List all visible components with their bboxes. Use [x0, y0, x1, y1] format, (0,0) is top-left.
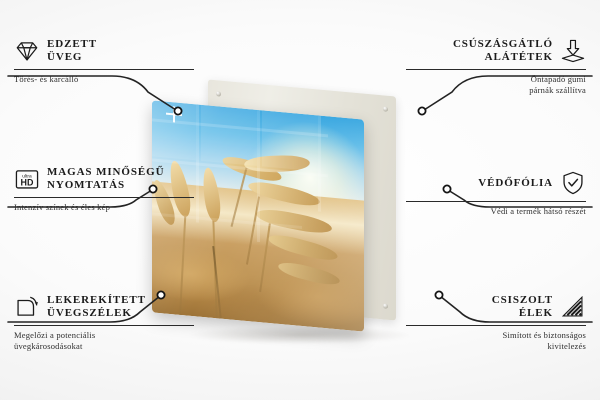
polished-edge-icon: [560, 294, 586, 320]
divider: [14, 69, 194, 70]
connector-dot: [418, 107, 425, 114]
feature-heading: CSÚSZÁSGÁTLÓ ALÁTÉTEK: [406, 38, 586, 64]
divider: [406, 201, 586, 202]
feature-title: MAGAS MINŐSÉGŰ NYOMTATÁS: [47, 166, 164, 192]
divider: [406, 325, 586, 326]
feature-title: LEKEREKÍTETT ÜVEGSZÉLEK: [47, 294, 146, 320]
feature-hd-print: ultra HD MAGAS MINŐSÉGŰ NYOMTATÁS Intenz…: [14, 166, 194, 213]
connector-dot: [174, 107, 181, 114]
feature-subtitle: kivitelezés: [406, 341, 586, 352]
feature-subtitle: Védi a termék hátsó részét: [406, 206, 586, 217]
feature-subtitle: párnák szállítva: [406, 85, 586, 96]
feature-title: CSÚSZÁSGÁTLÓ ALÁTÉTEK: [453, 38, 553, 64]
feature-title: CSISZOLT ÉLEK: [492, 294, 553, 320]
feature-heading: CSISZOLT ÉLEK: [406, 294, 586, 320]
feature-heading: ultra HD MAGAS MINŐSÉGŰ NYOMTATÁS: [14, 166, 194, 192]
feature-subtitle: Simított és biztonságos: [406, 330, 586, 341]
feature-subtitle: üvegkárosodásokat: [14, 341, 194, 352]
diamond-icon: [14, 38, 40, 64]
feature-subtitle: Megelőzi a potenciális: [14, 330, 194, 341]
shield-check-icon: [560, 170, 586, 196]
infographic-stage: EDZETT ÜVEG Törés- és karcálló ultra HD …: [0, 0, 600, 400]
feature-anti-slip-pads: CSÚSZÁSGÁTLÓ ALÁTÉTEK Öntapadó gumi párn…: [406, 38, 586, 95]
feature-heading: LEKEREKÍTETT ÜVEGSZÉLEK: [14, 294, 194, 320]
feature-heading: VÉDŐFÓLIA: [406, 170, 586, 196]
feature-heading: EDZETT ÜVEG: [14, 38, 194, 64]
feature-title: EDZETT ÜVEG: [47, 38, 97, 64]
feature-subtitle: Öntapadó gumi: [406, 74, 586, 85]
divider: [406, 69, 586, 70]
feature-subtitle: Törés- és karcálló: [14, 74, 194, 85]
divider: [14, 197, 194, 198]
anti-slip-pad-icon: [560, 38, 586, 64]
feature-rounded-edges: LEKEREKÍTETT ÜVEGSZÉLEK Megelőzi a poten…: [14, 294, 194, 351]
ultra-hd-badge-icon: ultra HD: [14, 166, 40, 192]
feature-tempered-glass: EDZETT ÜVEG Törés- és karcálló: [14, 38, 194, 85]
divider: [14, 325, 194, 326]
feature-protective-film: VÉDŐFÓLIA Védi a termék hátsó részét: [406, 170, 586, 217]
rounded-corner-icon: [14, 294, 40, 320]
svg-text:HD: HD: [21, 178, 34, 188]
feature-subtitle: Intenzív színek és éles kép: [14, 202, 194, 213]
feature-polished-edges: CSISZOLT ÉLEK Simított és biztonságos ki…: [406, 294, 586, 351]
feature-title: VÉDŐFÓLIA: [478, 177, 553, 190]
